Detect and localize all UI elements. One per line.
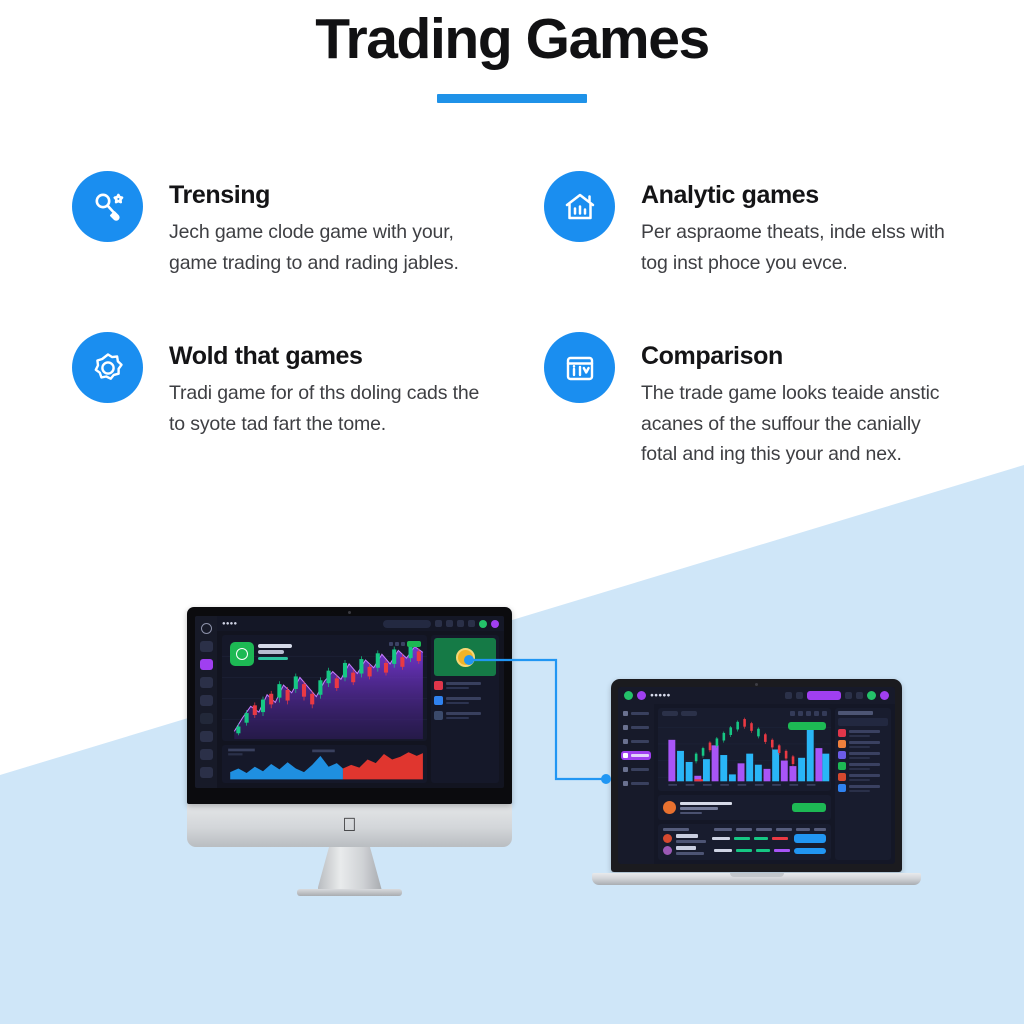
list-item-icon — [838, 762, 846, 770]
desktop-monitor-mockup: ●●●● — [187, 607, 512, 896]
feature-text-comparison: Comparison The trade game looks teaide a… — [615, 329, 956, 470]
table-column-header — [756, 828, 772, 831]
chart-timeframe-controls[interactable] — [389, 641, 421, 647]
sidebar-item-reports[interactable] — [200, 767, 213, 778]
sidebar-item-analytics-active[interactable] — [621, 751, 651, 760]
list-item[interactable] — [434, 694, 496, 706]
sidebar-item-alerts[interactable] — [200, 713, 213, 724]
sidebar-item-overview[interactable] — [621, 709, 651, 718]
desktop-candlestick-chart[interactable] — [222, 635, 427, 741]
sidebar-item-trade[interactable] — [200, 695, 213, 706]
sidebar-item-markets-active[interactable] — [200, 659, 213, 670]
laptop-lid: ●●●●● — [611, 679, 902, 872]
feature-text-analytic-games: Analytic games Per aspraome theats, inde… — [615, 168, 956, 278]
volume-strip-svg — [222, 745, 427, 783]
laptop-app-title: ●●●●● — [650, 692, 671, 699]
laptop-screen[interactable]: ●●●●● — [618, 687, 895, 864]
desktop-volume-strip-chart[interactable] — [222, 745, 427, 783]
list-item-icon — [434, 681, 443, 690]
topbar-chart-icon[interactable] — [457, 620, 464, 627]
sidebar-item-wallet[interactable] — [200, 677, 213, 688]
header: Trading Games — [0, 0, 1024, 103]
laptop-app-topbar: ●●●●● — [618, 687, 895, 704]
list-item[interactable] — [434, 709, 496, 721]
list-item[interactable] — [838, 762, 888, 770]
list-item[interactable] — [434, 679, 496, 691]
title-underline — [437, 94, 587, 103]
chart-tab-detail[interactable] — [681, 711, 697, 716]
chart-action-button[interactable] — [788, 722, 826, 730]
feature-description: Per aspraome theats, inde elss with tog … — [641, 210, 956, 278]
feature-title: Comparison — [641, 341, 956, 371]
table-column-header — [796, 828, 810, 831]
list-item[interactable] — [838, 740, 888, 748]
sidebar-item-portfolio[interactable] — [621, 737, 651, 746]
topbar-menu-icon[interactable] — [446, 620, 453, 627]
list-item[interactable] — [838, 729, 888, 737]
topbar-bell-icon[interactable] — [468, 620, 475, 627]
topbar-avatar-purple[interactable] — [880, 691, 889, 700]
laptop-main-column — [654, 704, 835, 864]
asset-logo-icon — [230, 642, 254, 666]
chart-toolbar[interactable] — [662, 711, 827, 716]
list-item-icon — [838, 729, 846, 737]
row-asset-icon — [663, 846, 672, 855]
desktop-app-body — [217, 631, 504, 788]
list-item[interactable] — [838, 784, 888, 792]
list-item-icon — [434, 711, 443, 720]
page-title: Trading Games — [0, 0, 1024, 76]
list-item[interactable] — [838, 773, 888, 781]
topbar-primary-button[interactable] — [807, 691, 841, 700]
poster-root: Trading Games Trensing Jech game clode g… — [0, 0, 1024, 1024]
promo-card[interactable] — [434, 638, 496, 676]
table-column-header — [663, 828, 689, 831]
laptop-volume-comparison-chart[interactable] — [658, 708, 831, 791]
house-bars-icon — [544, 171, 615, 242]
asset-labels — [258, 642, 292, 660]
feature-description: The trade game looks teaide anstic acane… — [641, 371, 956, 470]
sidebar-item-settings[interactable] — [200, 749, 213, 760]
profile-action-button[interactable] — [792, 803, 826, 812]
topbar-help-icon[interactable] — [845, 692, 852, 699]
topbar-bell-icon[interactable] — [856, 692, 863, 699]
imac-screen[interactable]: ●●●● — [195, 616, 504, 788]
laptop-data-table[interactable] — [658, 824, 831, 860]
list-item-icon — [838, 784, 846, 792]
topbar-logo-purple-icon — [637, 691, 646, 700]
laptop-app-sidebar[interactable] — [618, 704, 654, 864]
chart-tools[interactable] — [790, 711, 827, 716]
chart-tab-overview[interactable] — [662, 711, 678, 716]
right-panel-title — [838, 711, 873, 715]
list-item[interactable] — [838, 751, 888, 759]
table-column-header — [776, 828, 792, 831]
row-asset-icon — [663, 834, 672, 843]
laptop-profile-card[interactable] — [658, 795, 831, 820]
list-item-icon — [838, 773, 846, 781]
feature-card-analytic-games[interactable]: Analytic games Per aspraome theats, inde… — [0, 168, 1024, 278]
desktop-app-topbar: ●●●● — [217, 616, 504, 631]
table-row[interactable] — [663, 834, 826, 843]
avatar — [663, 801, 676, 814]
laptop-right-panel[interactable] — [835, 708, 891, 860]
apple-logo-icon:  — [342, 816, 356, 835]
table-header-row — [663, 828, 826, 831]
sidebar-item-history[interactable] — [621, 765, 651, 774]
bar-chart-svg — [658, 708, 831, 791]
table-row[interactable] — [663, 846, 826, 855]
sidebar-item-settings[interactable] — [621, 779, 651, 788]
list-item-icon — [434, 696, 443, 705]
list-item-icon — [838, 740, 846, 748]
desktop-app-brand: ●●●● — [222, 621, 237, 627]
laptop-app-body — [618, 704, 895, 864]
topbar-add-icon[interactable] — [435, 620, 442, 627]
table-column-header — [736, 828, 752, 831]
features-row-1: Trensing Jech game clode game with your,… — [0, 168, 1024, 278]
feature-card-comparison[interactable]: Comparison The trade game looks teaide a… — [0, 329, 1024, 470]
profile-labels — [680, 802, 732, 814]
laptop-base-notch — [730, 873, 784, 877]
features-grid: Trensing Jech game clode game with your,… — [0, 168, 1024, 470]
imac-chin:  — [187, 804, 512, 847]
sidebar-item-markets[interactable] — [621, 723, 651, 732]
desktop-right-panel[interactable] — [431, 635, 499, 783]
laptop-camera — [755, 683, 758, 686]
row-action-button[interactable] — [794, 834, 826, 843]
right-panel-search-input[interactable] — [838, 718, 888, 726]
topbar-filter-icon[interactable] — [796, 692, 803, 699]
topbar-avatar-green[interactable] — [479, 620, 487, 628]
desktop-app-main: ●●●● — [217, 616, 504, 788]
imac-bezel: ●●●● — [187, 607, 512, 804]
sidebar-item-dashboard[interactable] — [200, 641, 213, 652]
table-column-header — [714, 828, 732, 831]
window-chart-icon — [544, 332, 615, 403]
imac-stand-foot — [297, 889, 402, 896]
laptop-mockup: ●●●●● — [592, 679, 921, 885]
sidebar-item-search[interactable] — [200, 731, 213, 742]
list-item-icon — [838, 751, 846, 759]
desktop-chart-column — [222, 635, 427, 783]
features-row-2: Wold that games Tradi game for of ths do… — [0, 329, 1024, 470]
sidebar-logo-icon — [201, 623, 212, 634]
promo-coin-icon — [456, 648, 475, 667]
topbar-avatar-purple[interactable] — [491, 620, 499, 628]
imac-camera — [348, 611, 351, 614]
laptop-base — [592, 873, 921, 885]
imac-stand-neck — [318, 847, 382, 889]
desktop-app-sidebar[interactable] — [195, 616, 217, 788]
desktop-search-input[interactable] — [383, 620, 431, 628]
topbar-logo-green-icon — [624, 691, 633, 700]
topbar-refresh-icon[interactable] — [785, 692, 792, 699]
desktop-asset-card[interactable] — [230, 642, 292, 666]
table-column-header — [814, 828, 826, 831]
feature-title: Analytic games — [641, 180, 956, 210]
topbar-avatar-green[interactable] — [867, 691, 876, 700]
